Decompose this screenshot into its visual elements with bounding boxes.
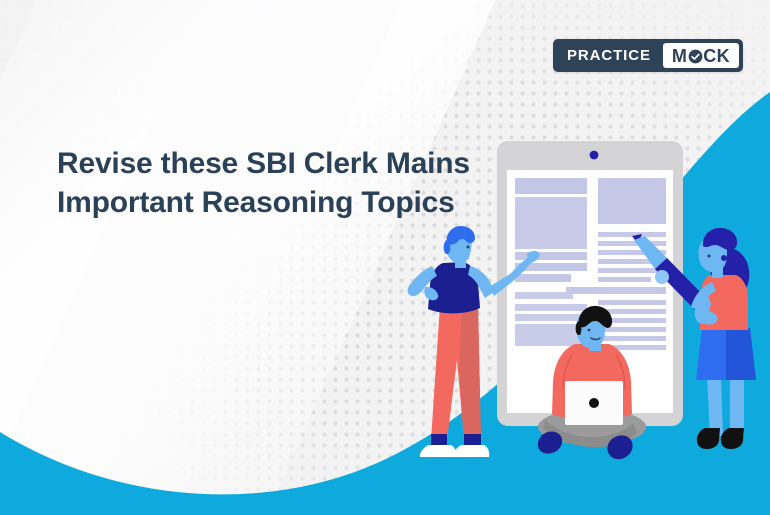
page-title: Revise these SBI Clerk Mains Important R… bbox=[57, 144, 597, 223]
brand-logo[interactable]: PRACTICE M CK bbox=[553, 39, 743, 72]
check-icon bbox=[688, 49, 703, 64]
woman-with-pencil bbox=[691, 228, 756, 449]
illustration bbox=[0, 0, 770, 515]
logo-practice-text: PRACTICE bbox=[557, 43, 663, 68]
logo-mock-plate: M CK bbox=[663, 43, 739, 68]
banner: Revise these SBI Clerk Mains Important R… bbox=[0, 0, 770, 515]
logo-mock-text-start: M bbox=[672, 47, 687, 65]
logo-mock-text-end: CK bbox=[703, 47, 730, 65]
